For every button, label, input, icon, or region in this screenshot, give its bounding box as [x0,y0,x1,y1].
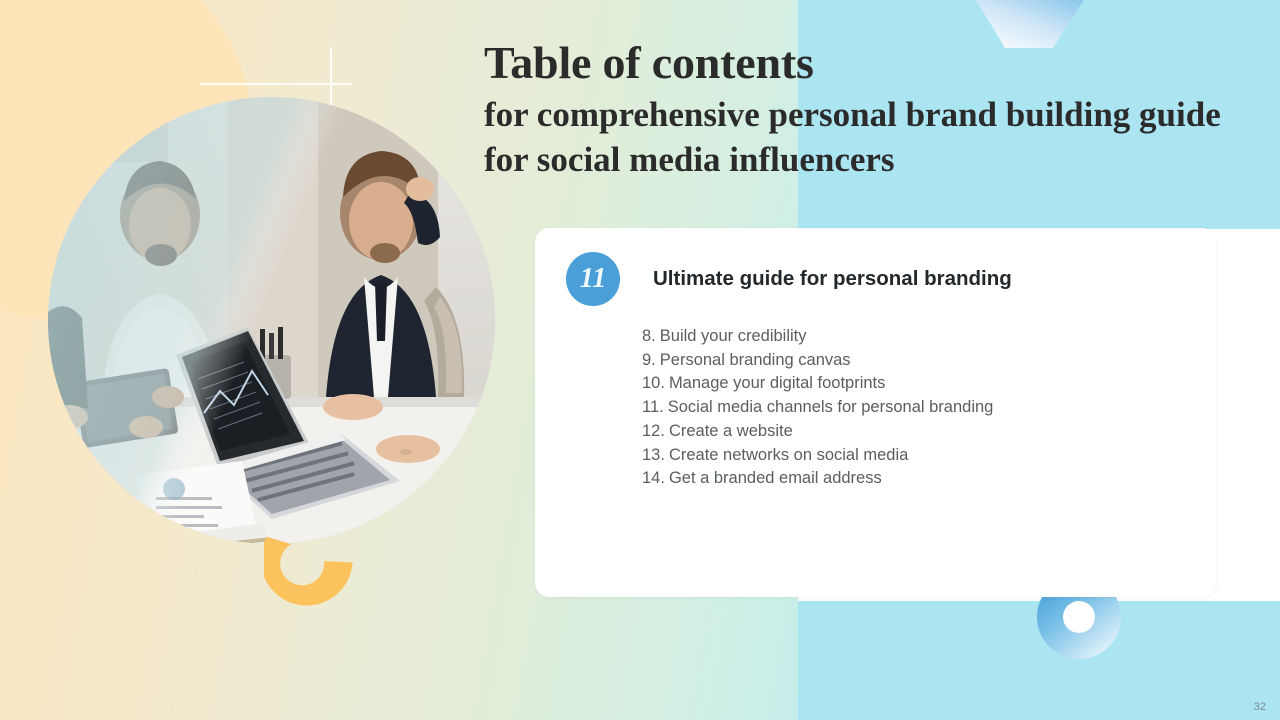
orange-arc-decoration [264,515,364,610]
list-item-label: Personal branding canvas [660,351,851,369]
list-item[interactable]: 8.Build your credibility [642,325,993,349]
list-item-label: Social media channels for personal brand… [668,398,994,416]
list-item[interactable]: 12.Create a website [642,420,993,444]
list-item-number: 10. [642,374,665,392]
list-item[interactable]: 11.Social media channels for personal br… [642,396,993,420]
list-item-number: 13. [642,446,665,464]
section-number-badge: 11 [566,252,620,306]
list-item-label: Get a branded email address [669,469,882,487]
content-card: 11 Ultimate guide for personal branding … [535,228,1216,597]
list-item[interactable]: 9.Personal branding canvas [642,349,993,373]
table-of-contents-list: 8.Build your credibility9.Personal brand… [642,325,993,491]
card-heading: Ultimate guide for personal branding [653,267,1012,291]
list-item-label: Create a website [669,422,793,440]
team-photo [48,97,495,544]
list-item-label: Create networks on social media [669,446,908,464]
list-item[interactable]: 10.Manage your digital footprints [642,372,993,396]
list-item-number: 9. [642,351,656,369]
list-item-label: Manage your digital footprints [669,374,885,392]
page-title: Table of contents [484,36,1254,90]
section-number-label: 11 [580,265,606,293]
list-item-number: 14. [642,469,665,487]
page-heading: Table of contents for comprehensive pers… [484,36,1254,182]
card-header: 11 Ultimate guide for personal branding [566,252,1012,306]
list-item-label: Build your credibility [660,327,807,345]
page-number: 32 [1254,701,1266,713]
list-item-number: 11. [642,398,664,416]
list-item[interactable]: 14.Get a branded email address [642,467,993,491]
list-item[interactable]: 13.Create networks on social media [642,444,993,468]
list-item-number: 8. [642,327,656,345]
page-subtitle: for comprehensive personal brand buildin… [484,92,1244,182]
slide-canvas: Table of contents for comprehensive pers… [0,0,1280,720]
list-item-number: 12. [642,422,665,440]
